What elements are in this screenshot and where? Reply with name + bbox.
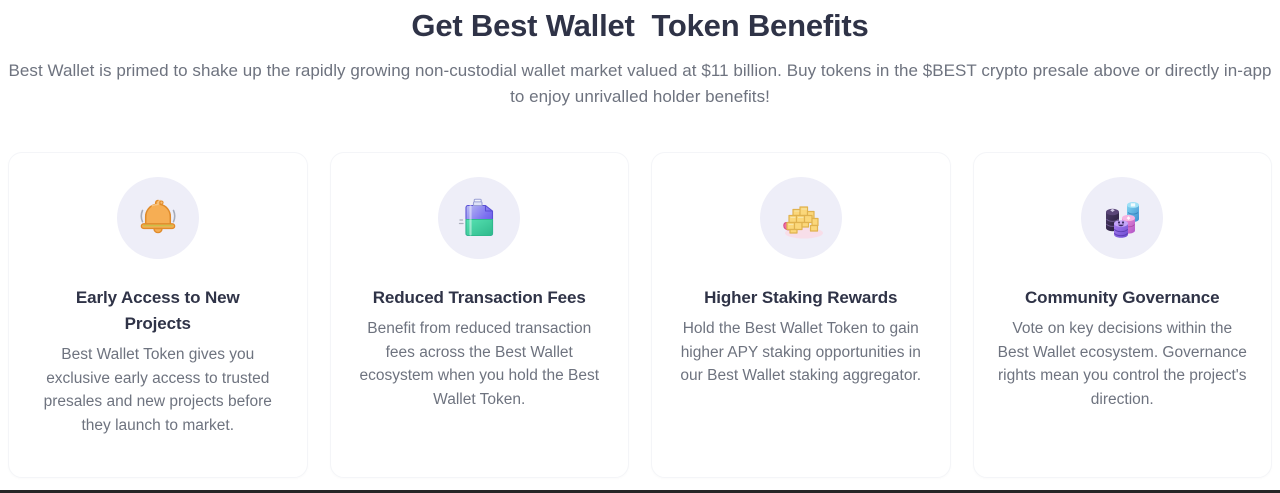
benefit-card-higher-staking[interactable]: Higher Staking Rewards Hold the Best Wal… <box>651 152 951 478</box>
card-description: Hold the Best Wallet Token to gain highe… <box>675 317 927 388</box>
card-title: Early Access to New Projects <box>43 285 273 337</box>
page-title: Get Best Wallet Token Benefits <box>0 6 1280 46</box>
card-description: Benefit from reduced transaction fees ac… <box>353 317 605 411</box>
gold-nuggets-icon <box>760 177 842 259</box>
benefits-section: Get Best Wallet Token Benefits Best Wall… <box>0 0 1280 493</box>
benefit-card-community-governance[interactable]: Community Governance Vote on key decisio… <box>973 152 1273 478</box>
card-title: Higher Staking Rewards <box>704 285 897 311</box>
bell-icon <box>117 177 199 259</box>
section-subtitle: Best Wallet is primed to shake up the ra… <box>6 58 1274 110</box>
card-description: Vote on key decisions within the Best Wa… <box>996 317 1248 411</box>
section-header: Get Best Wallet Token Benefits Best Wall… <box>0 0 1280 110</box>
coin-stacks-icon <box>1081 177 1163 259</box>
card-title: Reduced Transaction Fees <box>373 285 586 311</box>
benefit-card-reduced-fees[interactable]: Reduced Transaction Fees Benefit from re… <box>330 152 630 478</box>
benefit-card-early-access[interactable]: Early Access to New Projects Best Wallet… <box>8 152 308 478</box>
benefit-card-list: Early Access to New Projects Best Wallet… <box>8 152 1272 478</box>
card-description: Best Wallet Token gives you exclusive ea… <box>32 343 284 437</box>
fuel-jug-icon <box>438 177 520 259</box>
card-title: Community Governance <box>1025 285 1220 311</box>
